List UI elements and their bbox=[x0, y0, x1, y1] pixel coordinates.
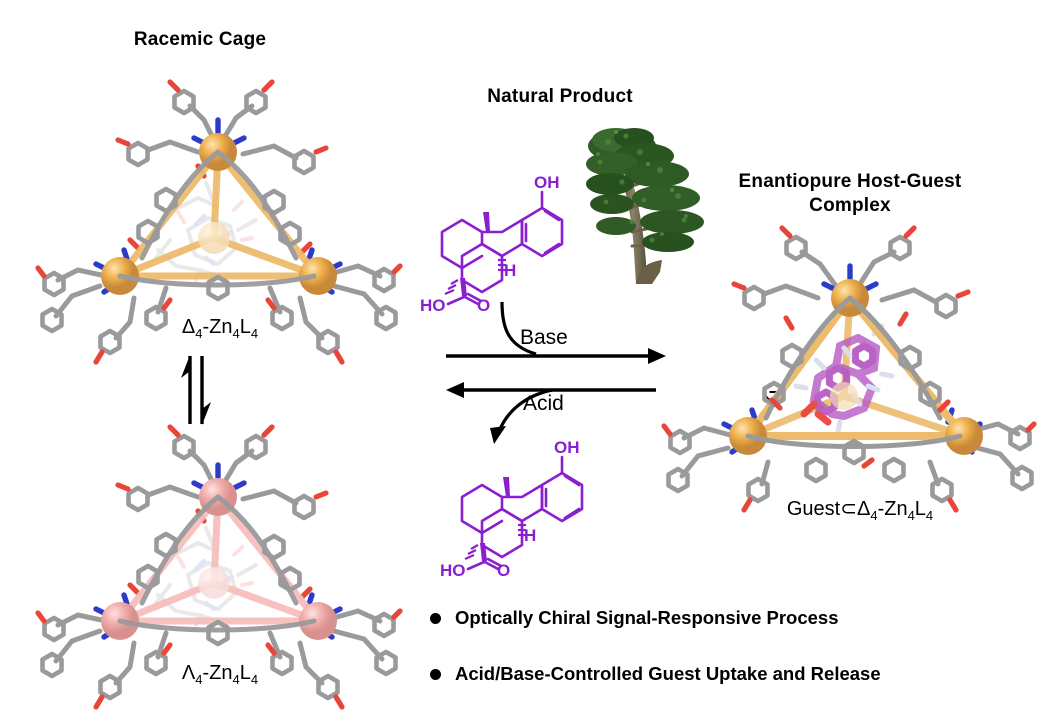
delta-sub: 4 bbox=[870, 508, 877, 523]
bullet-item-1: Optically Chiral Signal-Responsive Proce… bbox=[430, 607, 839, 629]
l-text: L bbox=[240, 316, 251, 338]
hashed-cooh-bond bbox=[445, 280, 458, 294]
label-oh: OH bbox=[534, 173, 560, 192]
host-guest-label: Guest⊂Δ4-Zn4L4 bbox=[720, 496, 1000, 523]
acid-text: Acid bbox=[523, 392, 564, 415]
bullet-text-1: Optically Chiral Signal-Responsive Proce… bbox=[455, 607, 839, 629]
l-sub: 4 bbox=[926, 508, 933, 523]
methyl-wedge bbox=[503, 477, 510, 497]
methyl-wedge bbox=[483, 212, 490, 232]
heading-host-guest-line1: Enantiopure Host-Guest bbox=[695, 170, 1005, 194]
zn-sub: 4 bbox=[233, 672, 240, 687]
label-o: O bbox=[497, 561, 510, 580]
delta-symbol: Δ bbox=[182, 316, 195, 338]
delta-sub: 4 bbox=[195, 326, 202, 341]
zn-text: -Zn bbox=[203, 662, 233, 684]
label-oh: OH bbox=[554, 438, 580, 457]
l-sub: 4 bbox=[251, 326, 258, 341]
guest-text: Guest⊂ bbox=[787, 498, 857, 520]
bullet-dot-icon bbox=[430, 669, 441, 680]
heading-natural-product-text: Natural Product bbox=[487, 86, 633, 107]
zn-sub: 4 bbox=[908, 508, 915, 523]
zn-sub: 4 bbox=[233, 326, 240, 341]
base-text: Base bbox=[520, 326, 568, 349]
delta-symbol: Δ bbox=[857, 498, 870, 520]
heading-natural-product: Natural Product bbox=[420, 85, 700, 109]
reaction-arrows bbox=[440, 300, 690, 445]
lambda-sub: 4 bbox=[195, 672, 202, 687]
bullet-item-2: Acid/Base-Controlled Guest Uptake and Re… bbox=[430, 663, 881, 685]
l-text: L bbox=[240, 662, 251, 684]
lambda-cage-structure bbox=[38, 425, 398, 675]
zinc-atom-back bbox=[198, 567, 230, 599]
lambda-symbol: Λ bbox=[182, 662, 195, 684]
lambda-cage-label: Λ4-Zn4L4 bbox=[110, 662, 330, 687]
l-text: L bbox=[915, 498, 926, 520]
reaction-label-acid: Acid bbox=[523, 392, 564, 416]
heading-racemic-cage: Racemic Cage bbox=[60, 28, 340, 52]
zinc-atom-back bbox=[198, 222, 230, 254]
reaction-label-base: Base bbox=[520, 326, 568, 350]
molecule-podocarpic-acid-top: OH H HO O bbox=[418, 168, 603, 313]
equilibrium-arrows bbox=[168, 352, 238, 428]
heading-host-guest-line2: Complex bbox=[695, 194, 1005, 218]
heading-host-guest-complex: Enantiopure Host-Guest Complex bbox=[695, 170, 1005, 218]
zn-text: -Zn bbox=[878, 498, 908, 520]
l-sub: 4 bbox=[251, 672, 258, 687]
bullet-text-2: Acid/Base-Controlled Guest Uptake and Re… bbox=[455, 663, 881, 685]
delta-cage-structure bbox=[38, 80, 398, 330]
molecule-podocarpic-acid-bottom: OH H HO O bbox=[438, 433, 623, 578]
host-guest-complex-structure bbox=[668, 228, 1028, 496]
heading-racemic-cage-text: Racemic Cage bbox=[134, 29, 266, 50]
delta-cage-label: Δ4-Zn4L4 bbox=[110, 316, 330, 341]
label-h: H bbox=[524, 526, 536, 545]
bullet-dot-icon bbox=[430, 613, 441, 624]
hashed-cooh-bond bbox=[465, 545, 478, 559]
label-h: H bbox=[504, 261, 516, 280]
zn-text: -Zn bbox=[203, 316, 233, 338]
label-ho: HO bbox=[440, 561, 466, 580]
